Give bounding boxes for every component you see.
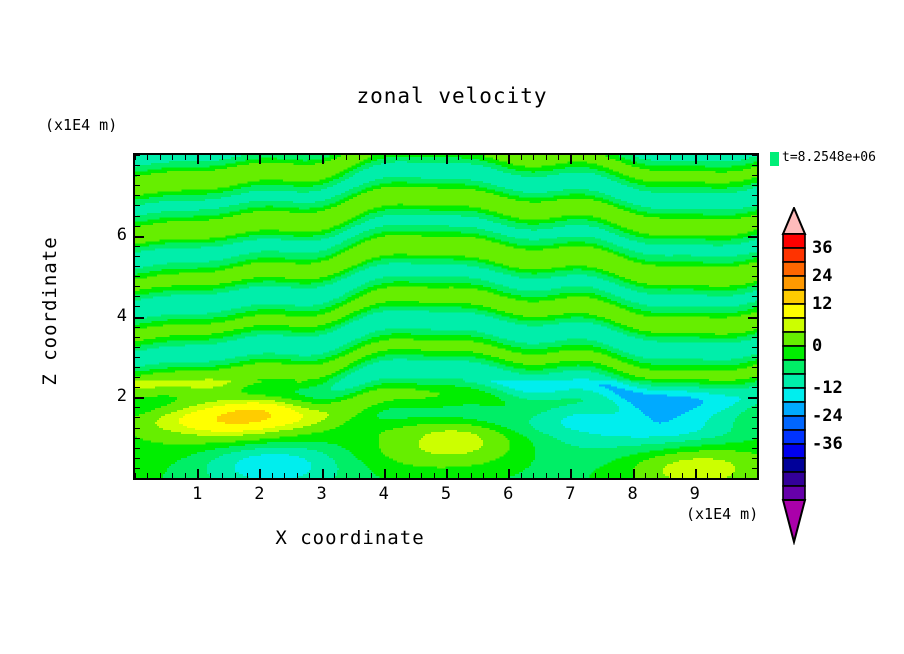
tick-mark [147,155,148,160]
tick-mark [135,266,140,267]
tick-mark [135,458,140,459]
tick-mark [533,155,534,160]
tick-mark [752,347,757,348]
tick-mark [752,165,757,166]
tick-mark [247,473,248,478]
tick-mark [645,155,646,160]
tick-mark [752,266,757,267]
tick-mark [752,478,757,479]
tick-mark [471,473,472,478]
tick-mark [720,155,721,160]
tick-mark [748,397,757,399]
tick-mark [752,175,757,176]
tick-mark [322,155,324,164]
tick-mark [752,428,757,429]
y-tick-label-2: 2 [87,386,127,406]
tick-mark [508,155,510,164]
tick-mark [259,469,261,478]
x-tick-label-3: 3 [302,484,342,504]
tick-mark [135,317,144,319]
tick-mark [570,155,572,164]
tick-mark [272,473,273,478]
tick-mark [421,155,422,160]
tick-mark [297,155,298,160]
tick-mark [471,155,472,160]
tick-mark [172,155,173,160]
tick-mark [309,155,310,160]
colorbar-label-36: 36 [812,238,832,258]
tick-mark [222,473,223,478]
tick-mark [620,473,621,478]
tick-mark [682,473,683,478]
tick-mark [334,473,335,478]
tick-mark [135,468,140,469]
tick-mark [272,155,273,160]
tick-mark [135,367,140,368]
tick-mark [670,473,671,478]
tick-mark [608,155,609,160]
tick-mark [135,276,140,277]
tick-mark [434,473,435,478]
tick-mark [496,155,497,160]
timestamp-color-swatch [770,152,779,166]
tick-mark [752,205,757,206]
tick-mark [752,468,757,469]
tick-mark [745,473,746,478]
tick-mark [235,155,236,160]
tick-mark [160,473,161,478]
tick-mark [135,397,144,399]
tick-mark [752,377,757,378]
tick-mark [533,473,534,478]
tick-mark [247,155,248,160]
colorbar-label-0: 0 [812,336,822,356]
tick-mark [483,155,484,160]
tick-mark [521,155,522,160]
tick-mark [135,185,140,186]
tick-mark [583,155,584,160]
y-axis-units-label: (x1E4 m) [45,116,117,134]
tick-mark [707,155,708,160]
tick-mark [496,473,497,478]
tick-mark [135,256,140,257]
tick-mark [135,165,140,166]
tick-mark [135,175,140,176]
tick-mark [570,469,572,478]
tick-mark [720,473,721,478]
colorbar-label-neg36: -36 [812,434,843,454]
tick-mark [135,417,140,418]
tick-mark [558,473,559,478]
tick-mark [135,286,140,287]
tick-mark [346,155,347,160]
colorbar-label-12: 12 [812,294,832,314]
tick-mark [297,473,298,478]
tick-mark [135,347,140,348]
tick-mark [409,155,410,160]
tick-mark [752,357,757,358]
x-tick-label-5: 5 [426,484,466,504]
tick-mark [752,216,757,217]
tick-mark [633,155,635,164]
tick-mark [752,246,757,247]
tick-mark [135,407,140,408]
tick-mark [322,469,324,478]
tick-mark [371,155,372,160]
tick-mark [309,473,310,478]
tick-mark [745,155,746,160]
tick-mark [259,155,261,164]
tick-mark [633,469,635,478]
tick-mark [752,256,757,257]
tick-mark [446,155,448,164]
tick-mark [695,469,697,478]
tick-mark [752,337,757,338]
tick-mark [396,155,397,160]
tick-mark [752,417,757,418]
tick-mark [135,438,140,439]
tick-mark [682,155,683,160]
x-tick-label-8: 8 [613,484,653,504]
tick-mark [458,473,459,478]
x-tick-label-7: 7 [550,484,590,504]
tick-mark [135,306,140,307]
tick-mark [483,473,484,478]
tick-mark [752,448,757,449]
tick-mark [583,473,584,478]
tick-mark [135,387,140,388]
x-tick-label-6: 6 [488,484,528,504]
x-tick-label-9: 9 [675,484,715,504]
x-tick-label-1: 1 [177,484,217,504]
tick-mark [147,473,148,478]
colorbar-label-24: 24 [812,266,832,286]
tick-mark [595,155,596,160]
tick-mark [135,478,140,479]
tick-mark [757,473,758,478]
tick-mark [135,448,140,449]
x-tick-label-2: 2 [239,484,279,504]
tick-mark [608,473,609,478]
tick-mark [409,473,410,478]
y-tick-label-6: 6 [87,225,127,245]
tick-mark [752,185,757,186]
tick-mark [434,155,435,160]
tick-mark [421,473,422,478]
y-axis-title: Z coordinate [39,201,61,421]
tick-mark [384,155,386,164]
tick-mark [235,473,236,478]
tick-mark [135,155,140,156]
tick-mark [752,286,757,287]
tick-mark [752,226,757,227]
tick-mark [210,155,211,160]
tick-mark [396,473,397,478]
tick-mark [197,469,199,478]
chart-title: zonal velocity [0,84,904,108]
x-axis-title: X coordinate [0,527,700,549]
tick-mark [334,155,335,160]
tick-mark [135,226,140,227]
tick-mark [284,473,285,478]
tick-mark [620,155,621,160]
timestamp-annotation: t=8.2548e+06 [782,150,876,165]
tick-mark [359,473,360,478]
tick-mark [210,473,211,478]
tick-mark [521,473,522,478]
tick-mark [757,155,758,160]
tick-mark [752,276,757,277]
tick-mark [135,205,140,206]
tick-mark [359,155,360,160]
tick-mark [222,155,223,160]
tick-mark [595,473,596,478]
tick-mark [546,155,547,160]
tick-mark [645,473,646,478]
tick-mark [185,473,186,478]
tick-mark [657,155,658,160]
tick-mark [752,387,757,388]
tick-mark [458,155,459,160]
colorbar[interactable] [781,207,807,549]
tick-mark [135,246,140,247]
colorbar-label-neg24: -24 [812,406,843,426]
tick-mark [371,473,372,478]
tick-mark [752,407,757,408]
tick-mark [546,473,547,478]
tick-mark [384,469,386,478]
tick-mark [752,296,757,297]
contour-plot-field[interactable] [135,155,757,478]
tick-mark [748,317,757,319]
tick-mark [508,469,510,478]
tick-mark [748,236,757,238]
tick-mark [752,155,757,156]
tick-mark [752,306,757,307]
tick-mark [657,473,658,478]
tick-mark [346,473,347,478]
tick-mark [752,458,757,459]
tick-mark [284,155,285,160]
tick-mark [135,337,140,338]
tick-mark [172,473,173,478]
tick-mark [752,367,757,368]
tick-mark [135,327,140,328]
tick-mark [135,216,140,217]
tick-mark [135,296,140,297]
tick-mark [185,155,186,160]
tick-mark [752,438,757,439]
tick-mark [135,236,144,238]
tick-mark [732,473,733,478]
colorbar-label-neg12: -12 [812,378,843,398]
y-tick-label-4: 4 [87,306,127,326]
tick-mark [135,195,140,196]
tick-mark [707,473,708,478]
tick-mark [135,377,140,378]
tick-mark [558,155,559,160]
tick-mark [752,327,757,328]
tick-mark [160,155,161,160]
x-axis-units-label: (x1E4 m) [686,505,758,523]
tick-mark [752,195,757,196]
tick-mark [135,428,140,429]
tick-mark [197,155,199,164]
tick-mark [135,357,140,358]
tick-mark [446,469,448,478]
tick-mark [670,155,671,160]
x-tick-label-4: 4 [364,484,404,504]
tick-mark [695,155,697,164]
tick-mark [732,155,733,160]
